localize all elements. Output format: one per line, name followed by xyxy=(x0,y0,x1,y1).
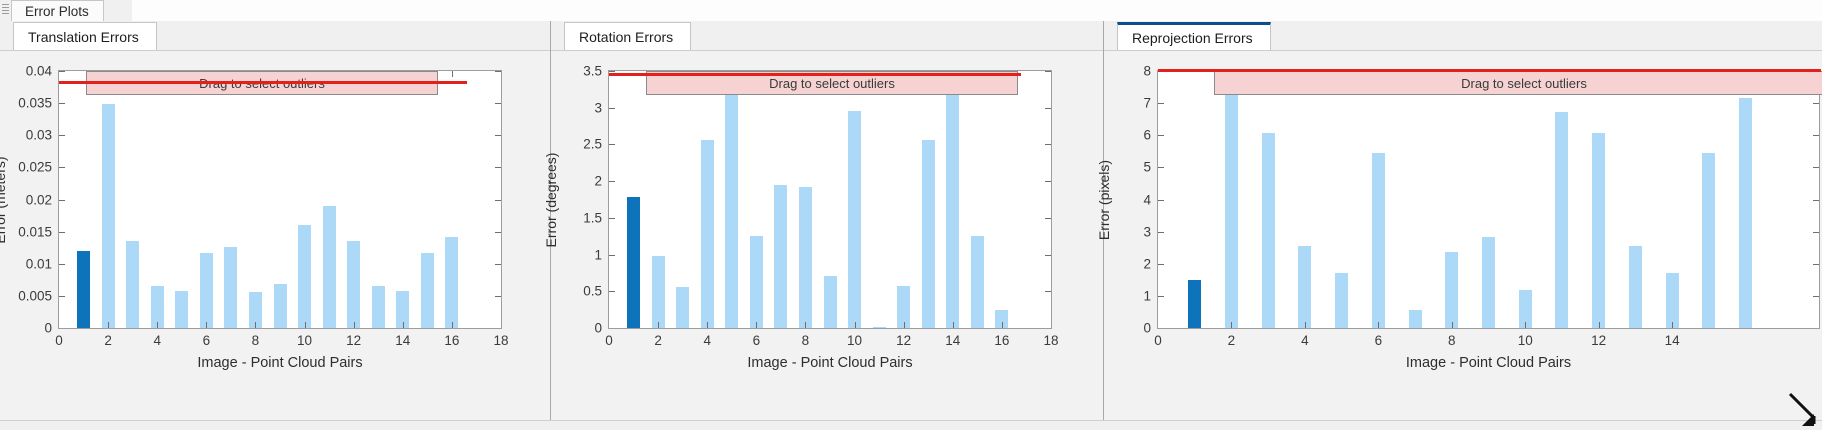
bar[interactable] xyxy=(676,287,689,328)
bar[interactable] xyxy=(1225,91,1238,328)
bar[interactable] xyxy=(799,187,812,328)
y-tick-label: 1 xyxy=(1104,288,1151,303)
axis-tick-bottom xyxy=(707,322,708,328)
panel-tab-row-rotation: Rotation Errors xyxy=(551,21,1104,51)
x-tick-label: 12 xyxy=(896,333,911,348)
panel-reprojection-errors: Reprojection Errors Drag to select outli… xyxy=(1104,21,1822,430)
bar[interactable] xyxy=(627,197,640,328)
axis-tick-right xyxy=(495,296,501,297)
chart-rotation-errors: Drag to select outliers00.511.522.533.50… xyxy=(551,51,1104,430)
y-axis-title: Error (pixels) xyxy=(1096,159,1112,239)
bar[interactable] xyxy=(946,91,959,328)
x-tick-label: 8 xyxy=(1448,333,1456,348)
axis-tick-left xyxy=(609,328,615,329)
axis-tick-bottom xyxy=(805,322,806,328)
bar[interactable] xyxy=(1592,133,1605,328)
bar[interactable] xyxy=(102,104,115,328)
bar[interactable] xyxy=(445,237,458,328)
y-tick-label: 8 xyxy=(1104,64,1151,79)
x-tick-label: 10 xyxy=(1518,333,1533,348)
drag-grip-icon[interactable] xyxy=(2,2,9,18)
axis-tick-left xyxy=(609,144,615,145)
panel-translation-errors: Translation Errors Drag to select outlie… xyxy=(0,21,551,430)
document-tab-label: Error Plots xyxy=(25,4,89,19)
axis-tick-bottom xyxy=(1378,322,1379,328)
axis-tick-bottom xyxy=(855,322,856,328)
bar[interactable] xyxy=(274,284,287,328)
panel-rotation-errors: Rotation Errors Drag to select outliers0… xyxy=(551,21,1104,430)
bar[interactable] xyxy=(224,247,237,328)
axis-tick-right xyxy=(495,264,501,265)
bar[interactable] xyxy=(421,253,434,328)
bar[interactable] xyxy=(922,140,935,328)
y-tick-label: 3 xyxy=(551,100,602,115)
axis-tick-left xyxy=(59,328,65,329)
axis-tick-left xyxy=(1158,200,1164,201)
axis-tick-right xyxy=(1045,108,1051,109)
axis-tick-bottom xyxy=(206,322,207,328)
x-tick-label: 2 xyxy=(1228,333,1236,348)
axis-tick-left xyxy=(609,71,615,72)
y-tick-label: 0.01 xyxy=(0,256,52,271)
axis-tick-right xyxy=(495,135,501,136)
bar[interactable] xyxy=(824,276,837,328)
bar[interactable] xyxy=(873,327,886,328)
axis-tick-right xyxy=(1813,296,1819,297)
document-tab-error-plots[interactable]: Error Plots xyxy=(11,0,104,21)
axis-tick-left xyxy=(609,218,615,219)
axis-tick-bottom xyxy=(1599,322,1600,328)
axis-tick-bottom xyxy=(1672,322,1673,328)
axis-tick-bottom xyxy=(305,322,306,328)
tab-label: Rotation Errors xyxy=(579,29,673,45)
plot-area-translation[interactable] xyxy=(58,70,502,329)
axis-tick-right xyxy=(495,103,501,104)
axis-tick-left xyxy=(59,264,65,265)
axis-tick-top xyxy=(452,71,453,77)
bar[interactable] xyxy=(77,251,90,328)
axis-tick-right xyxy=(495,328,501,329)
x-tick-label: 4 xyxy=(153,333,161,348)
x-tick-label: 18 xyxy=(493,333,508,348)
y-tick-label: 0.03 xyxy=(0,128,52,143)
axis-tick-left xyxy=(609,181,615,182)
axis-tick-left xyxy=(1158,167,1164,168)
axis-tick-right xyxy=(495,232,501,233)
axis-tick-right xyxy=(1813,103,1819,104)
panel-row: Translation Errors Drag to select outlie… xyxy=(0,21,1822,430)
y-tick-label: 0 xyxy=(0,321,52,336)
axis-tick-bottom xyxy=(904,322,905,328)
outlier-drag-label: Drag to select outliers xyxy=(1461,76,1587,91)
panel-tab-row-translation: Translation Errors xyxy=(0,21,551,51)
bar[interactable] xyxy=(1629,246,1642,328)
bar[interactable] xyxy=(347,241,360,328)
x-tick-label: 6 xyxy=(203,333,211,348)
x-tick-label: 2 xyxy=(104,333,112,348)
axis-tick-left xyxy=(1158,135,1164,136)
bar[interactable] xyxy=(1555,112,1568,328)
tab-label: Reprojection Errors xyxy=(1132,30,1253,46)
drag-grip-icon[interactable] xyxy=(4,29,11,43)
x-tick-label: 14 xyxy=(1665,333,1680,348)
x-tick-label: 6 xyxy=(753,333,761,348)
axis-tick-right xyxy=(1813,200,1819,201)
axis-tick-bottom xyxy=(255,322,256,328)
x-tick-label: 10 xyxy=(847,333,862,348)
axis-tick-right xyxy=(1045,181,1051,182)
axis-tick-bottom xyxy=(403,322,404,328)
bar[interactable] xyxy=(1335,273,1348,328)
axis-tick-left xyxy=(59,103,65,104)
axis-tick-left xyxy=(1158,264,1164,265)
axis-tick-bottom xyxy=(354,322,355,328)
bar[interactable] xyxy=(1298,246,1311,328)
axis-tick-bottom xyxy=(1452,322,1453,328)
bar[interactable] xyxy=(1372,153,1385,328)
bar[interactable] xyxy=(774,185,787,328)
x-tick-label: 14 xyxy=(945,333,960,348)
axis-tick-right xyxy=(1813,135,1819,136)
y-axis-title: Error (degrees) xyxy=(543,152,559,247)
x-tick-label: 0 xyxy=(55,333,63,348)
y-tick-label: 3.5 xyxy=(551,64,602,79)
x-tick-label: 16 xyxy=(994,333,1009,348)
axis-tick-left xyxy=(59,232,65,233)
y-tick-label: 0.5 xyxy=(551,284,602,299)
axis-tick-bottom xyxy=(658,322,659,328)
x-tick-label: 2 xyxy=(654,333,662,348)
plot-inner xyxy=(59,71,501,328)
y-tick-label: 6 xyxy=(1104,128,1151,143)
axis-tick-bottom xyxy=(452,322,453,328)
x-tick-label: 12 xyxy=(346,333,361,348)
bar[interactable] xyxy=(848,111,861,328)
bar[interactable] xyxy=(298,225,311,328)
bar[interactable] xyxy=(200,253,213,328)
x-tick-label: 14 xyxy=(395,333,410,348)
axis-tick-bottom xyxy=(1305,322,1306,328)
axis-tick-right xyxy=(495,167,501,168)
axis-tick-right xyxy=(1813,232,1819,233)
x-tick-label: 0 xyxy=(605,333,613,348)
outlier-threshold-line-translation[interactable] xyxy=(59,81,467,84)
y-axis-title: Error (meters) xyxy=(0,156,8,243)
bar[interactable] xyxy=(1409,310,1422,328)
bar[interactable] xyxy=(652,256,665,328)
drag-grip-icon[interactable] xyxy=(555,29,562,43)
x-tick-label: 12 xyxy=(1591,333,1606,348)
y-tick-label: 2 xyxy=(1104,256,1151,271)
axis-tick-bottom xyxy=(108,322,109,328)
tab-rotation-errors[interactable]: Rotation Errors xyxy=(564,22,691,51)
bar[interactable] xyxy=(372,286,385,328)
axis-tick-left xyxy=(609,255,615,256)
outlier-drag-label: Drag to select outliers xyxy=(769,76,895,91)
tab-reprojection-errors[interactable]: Reprojection Errors xyxy=(1117,22,1271,51)
axis-tick-left xyxy=(1158,328,1164,329)
y-tick-label: 0 xyxy=(1104,321,1151,336)
bar[interactable] xyxy=(1262,133,1275,328)
bar[interactable] xyxy=(1739,98,1752,328)
axis-tick-bottom xyxy=(953,322,954,328)
axis-tick-bottom xyxy=(1002,322,1003,328)
x-axis-title: Image - Point Cloud Pairs xyxy=(197,355,362,371)
axis-tick-right xyxy=(1045,328,1051,329)
x-axis-title: Image - Point Cloud Pairs xyxy=(747,355,912,371)
axis-tick-left xyxy=(609,291,615,292)
x-tick-label: 10 xyxy=(297,333,312,348)
plot-inner xyxy=(609,71,1051,328)
axis-tick-right xyxy=(1813,167,1819,168)
bar[interactable] xyxy=(1482,237,1495,328)
outlier-threshold-line-reprojection[interactable] xyxy=(1158,69,1821,72)
bottom-status-strip xyxy=(0,420,1822,430)
error-plots-window: Error Plots Translation Errors Drag to s… xyxy=(0,0,1822,430)
plot-area-reprojection[interactable] xyxy=(1157,70,1820,329)
axis-tick-right xyxy=(495,200,501,201)
axis-tick-left xyxy=(59,71,65,72)
bar[interactable] xyxy=(750,236,763,328)
bar[interactable] xyxy=(701,140,714,328)
y-tick-label: 0.005 xyxy=(0,288,52,303)
tab-label: Translation Errors xyxy=(28,29,139,45)
document-tab-bar: Error Plots xyxy=(0,0,1822,21)
x-tick-label: 0 xyxy=(1154,333,1162,348)
bar[interactable] xyxy=(126,241,139,328)
x-tick-label: 18 xyxy=(1043,333,1058,348)
axis-tick-right xyxy=(1045,218,1051,219)
tab-translation-errors[interactable]: Translation Errors xyxy=(13,22,157,51)
axis-tick-bottom xyxy=(756,322,757,328)
axis-tick-left xyxy=(59,200,65,201)
y-tick-label: 1 xyxy=(551,247,602,262)
axis-tick-bottom xyxy=(157,322,158,328)
x-axis-title: Image - Point Cloud Pairs xyxy=(1406,355,1571,371)
x-tick-label: 16 xyxy=(444,333,459,348)
y-tick-label: 0.035 xyxy=(0,96,52,111)
y-tick-label: 0.04 xyxy=(0,64,52,79)
document-tab-filler xyxy=(132,0,1822,22)
axis-tick-bottom xyxy=(1525,322,1526,328)
axis-tick-left xyxy=(1158,232,1164,233)
drag-grip-icon[interactable] xyxy=(1108,29,1115,43)
bar[interactable] xyxy=(1666,273,1679,328)
x-tick-label: 4 xyxy=(703,333,711,348)
axis-tick-left xyxy=(1158,103,1164,104)
axis-tick-right xyxy=(1045,291,1051,292)
y-tick-label: 0 xyxy=(551,321,602,336)
axis-tick-bottom xyxy=(1231,322,1232,328)
bar[interactable] xyxy=(1445,252,1458,328)
axis-tick-right xyxy=(1045,71,1051,72)
chart-translation-errors: Drag to select outliers00.0050.010.0150.… xyxy=(0,51,551,430)
chart-reprojection-errors: Drag to select outliers01234567802468101… xyxy=(1104,51,1822,430)
axis-tick-right xyxy=(1813,328,1819,329)
axis-tick-right xyxy=(1045,255,1051,256)
bar[interactable] xyxy=(725,91,738,328)
axis-tick-left xyxy=(59,167,65,168)
x-tick-label: 4 xyxy=(1301,333,1309,348)
bar[interactable] xyxy=(1702,153,1715,328)
axis-tick-right xyxy=(495,71,501,72)
x-tick-label: 8 xyxy=(802,333,810,348)
panel-tab-row-reprojection: Reprojection Errors xyxy=(1104,21,1822,51)
plot-area-rotation[interactable] xyxy=(608,70,1052,329)
x-tick-label: 8 xyxy=(252,333,260,348)
bar[interactable] xyxy=(1188,280,1201,328)
bar[interactable] xyxy=(175,291,188,328)
y-tick-label: 7 xyxy=(1104,96,1151,111)
y-tick-label: 2.5 xyxy=(551,137,602,152)
axis-tick-left xyxy=(59,135,65,136)
axis-tick-left xyxy=(1158,296,1164,297)
axis-tick-right xyxy=(1045,144,1051,145)
outlier-threshold-line-rotation[interactable] xyxy=(609,73,1021,76)
axis-tick-right xyxy=(1813,264,1819,265)
axis-tick-left xyxy=(609,108,615,109)
x-tick-label: 6 xyxy=(1375,333,1383,348)
axis-tick-left xyxy=(59,296,65,297)
resize-down-arrow-cursor xyxy=(1784,390,1820,430)
plot-inner xyxy=(1158,71,1819,328)
bar[interactable] xyxy=(971,236,984,328)
outlier-drag-band-reprojection[interactable]: Drag to select outliers xyxy=(1214,71,1822,95)
bar[interactable] xyxy=(323,206,336,328)
